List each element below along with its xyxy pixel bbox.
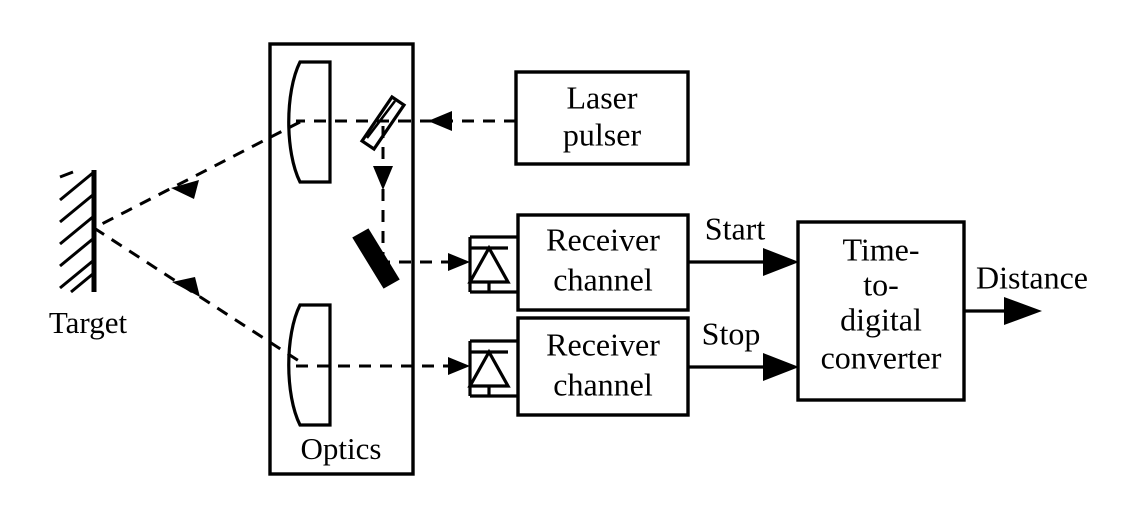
optics-label: Optics [301,431,382,466]
target-wall [60,170,94,292]
laser-beam-arrowhead [428,111,452,131]
tdc-label-line2: to- [863,266,899,302]
start-photodiode [470,237,518,292]
receiver-channel-stop-label-line2: channel [553,366,653,402]
receiver-channel-start-label-line2: channel [553,261,653,297]
target-label: Target [49,305,128,340]
start-signal-label: Start [705,210,766,246]
target-hatch-line [60,238,94,266]
tdc-label-line1: Time- [842,231,919,267]
tdc-label-line3: digital [840,301,922,337]
stop-diode-arrowhead [448,357,470,375]
receiver-channel-start-label-line1: Receiver [546,221,660,257]
target-hatch-line [60,216,94,244]
stop-photodiode-triangle [470,352,508,386]
rangefinder-diagram: Target Optics Laser pulser [0,0,1123,527]
target-hatch-line [60,194,94,222]
target-hatch-line [60,260,94,288]
start-photodiode-triangle [470,248,508,282]
distance-output-label: Distance [976,259,1088,295]
stop-signal-arrowhead [763,353,799,381]
laser-pulser-label-line2: pulser [563,116,642,152]
receiver-channel-stop-label-line1: Receiver [546,326,660,362]
start-diode-arrowhead [448,253,470,271]
distance-output-arrowhead [1004,297,1042,325]
start-signal-arrowhead [763,248,799,276]
return-beam-arrowhead [172,277,200,297]
stop-photodiode [470,341,518,396]
target-hatch-line [60,172,73,177]
tdc-label-line4: converter [821,339,942,375]
laser-pulser-label-line1: Laser [566,79,637,115]
diagram-canvas: Target Optics Laser pulser [0,0,1123,527]
stop-signal-label: Stop [702,315,761,351]
